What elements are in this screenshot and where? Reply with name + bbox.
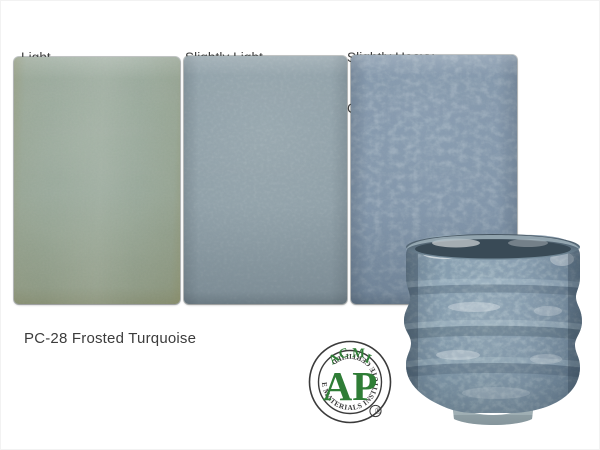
pot-body — [396, 233, 590, 425]
pot-rim — [406, 234, 580, 260]
acmi-ap-seal: ART & CREATIVE MATERIALS INSTITUTE CERTI… — [302, 334, 398, 430]
seal-ap-text: AP — [323, 363, 378, 409]
glaze-tile-slightly-light-sheen — [184, 56, 347, 304]
seal-registered-mark: ® — [375, 406, 382, 416]
glaze-tile-slightly-light — [184, 56, 347, 304]
glaze-tile-light — [14, 57, 180, 304]
glaze-tile-light-sheen — [14, 57, 180, 304]
glazed-pot — [396, 233, 590, 425]
glaze-sample-card: Light Coat of Glaze — [0, 0, 600, 450]
svg-text:M: M — [352, 345, 366, 360]
product-name: PC-28 Frosted Turquoise — [24, 330, 196, 347]
